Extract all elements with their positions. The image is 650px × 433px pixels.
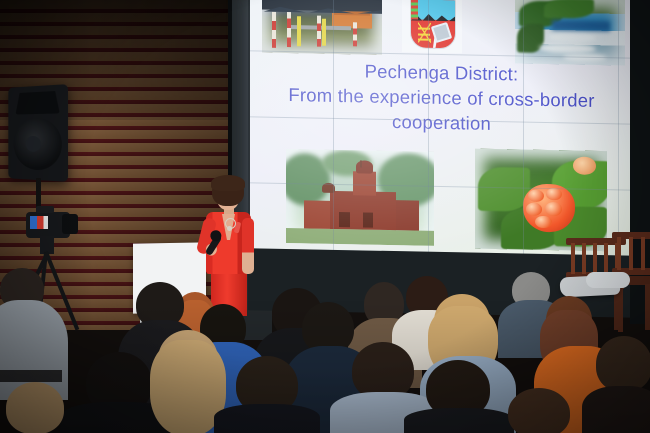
photo-vignette	[0, 0, 650, 433]
presentation-photo-scene: Pechenga District: From the experience o…	[0, 0, 650, 433]
